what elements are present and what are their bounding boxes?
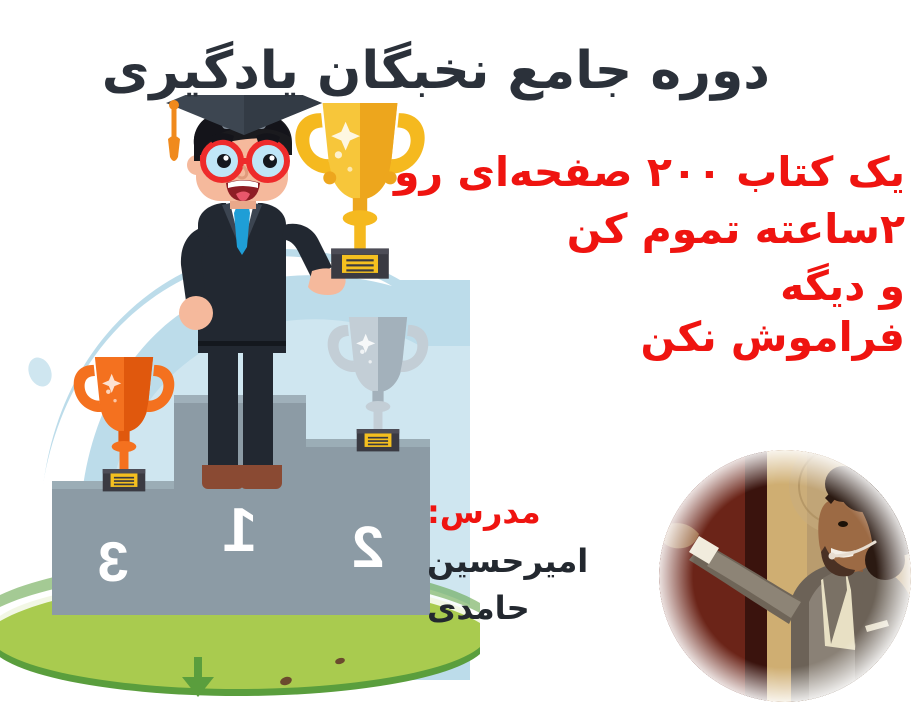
- instructor-last-name: حامدی: [427, 588, 637, 629]
- poster-title: دوره جامع نخبگان یادگیری: [130, 42, 770, 100]
- podium-first: 1: [174, 395, 306, 615]
- svg-text:3: 3: [97, 530, 128, 593]
- svg-text:1: 1: [223, 496, 257, 565]
- headline-line-2: ۲ساعته تموم کن: [345, 207, 905, 252]
- poster-canvas: 3 1 2: [0, 0, 911, 720]
- headline-line-3: و دیگه: [345, 264, 905, 309]
- instructor-credit: مدرس: امیرحسین حامدی: [427, 492, 637, 629]
- headline-line-4: فراموش نکن: [345, 315, 905, 360]
- instructor-label: مدرس:: [427, 492, 637, 533]
- svg-text:2: 2: [352, 515, 384, 580]
- headline-line-1: یک کتاب ۲۰۰ صفحه‌ای رو: [345, 150, 905, 195]
- podium-second: 2: [306, 439, 430, 615]
- instructor-first-name: امیرحسین: [427, 541, 637, 582]
- podium-third: 3: [52, 481, 174, 615]
- instructor-photo: [659, 450, 911, 702]
- bronze-trophy: [74, 357, 175, 491]
- headline-block: یک کتاب ۲۰۰ صفحه‌ای رو ۲ساعته تموم کن و …: [345, 150, 905, 360]
